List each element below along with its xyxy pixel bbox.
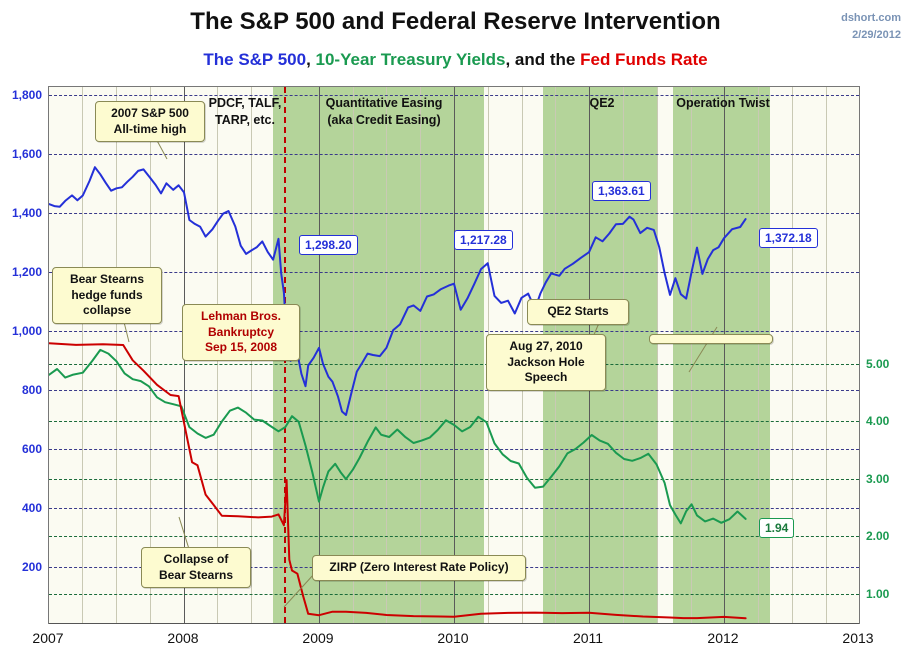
x-tick-2008: 2008 xyxy=(153,630,213,646)
y2-tick-2: 2.00 xyxy=(866,529,911,543)
credit-site: dshort.com xyxy=(841,10,901,27)
value-label-1372: 1,372.18 xyxy=(759,228,818,248)
y2-tick-4: 4.00 xyxy=(866,414,911,428)
y-tick-1600: 1,600 xyxy=(0,147,42,161)
credit-block: dshort.com 2/29/2012 xyxy=(841,10,901,44)
legend-sp500: The S&P 500 xyxy=(203,50,306,69)
callout-jackson-hole: Aug 27, 2010Jackson HoleSpeech xyxy=(486,334,606,391)
chart-subtitle: The S&P 500, 10-Year Treasury Yields, an… xyxy=(0,50,911,70)
y-tick-1000: 1,000 xyxy=(0,324,42,338)
callout-bear-hedge: Bear Stearnshedge fundscollapse xyxy=(52,267,162,324)
callout-bear-collapse: Collapse ofBear Stearns xyxy=(141,547,251,588)
callout-qe2-starts: QE2 Starts xyxy=(527,299,629,325)
legend-fedfunds: Fed Funds Rate xyxy=(580,50,708,69)
y-tick-1400: 1,400 xyxy=(0,206,42,220)
y-tick-800: 800 xyxy=(0,383,42,397)
x-tick-2009: 2009 xyxy=(288,630,348,646)
callout-zirp: ZIRP (Zero Interest Rate Policy) xyxy=(312,555,526,581)
value-label-194: 1.94 xyxy=(759,518,794,538)
y2-tick-3: 3.00 xyxy=(866,472,911,486)
y-tick-1800: 1,800 xyxy=(0,88,42,102)
y-tick-400: 400 xyxy=(0,501,42,515)
x-tick-2013: 2013 xyxy=(828,630,888,646)
callout-twist xyxy=(649,334,773,344)
x-tick-2007: 2007 xyxy=(18,630,78,646)
credit-date: 2/29/2012 xyxy=(841,27,901,44)
chart-plot-area: PDCF, TALF,TARP, etc. Quantitative Easin… xyxy=(48,86,860,624)
subtitle-sep-2: , and the xyxy=(505,50,580,69)
band-label-qe2: QE2 xyxy=(567,95,637,112)
y-tick-200: 200 xyxy=(0,560,42,574)
subtitle-sep-1: , xyxy=(306,50,315,69)
page-title: The S&P 500 and Federal Reserve Interven… xyxy=(0,8,911,36)
y2-tick-1: 1.00 xyxy=(866,587,911,601)
callout-lehman: Lehman Bros.BankruptcySep 15, 2008 xyxy=(182,304,300,361)
band-label-pdcf: PDCF, TALF,TARP, etc. xyxy=(195,95,295,129)
band-label-twist: Operation Twist xyxy=(673,95,773,112)
band-label-qe: Quantitative Easing(aka Credit Easing) xyxy=(299,95,469,129)
x-tick-2012: 2012 xyxy=(693,630,753,646)
y-tick-600: 600 xyxy=(0,442,42,456)
value-label-1363: 1,363.61 xyxy=(592,181,651,201)
x-tick-2011: 2011 xyxy=(558,630,618,646)
callout-all-time-high: 2007 S&P 500All-time high xyxy=(95,101,205,142)
value-label-1298: 1,298.20 xyxy=(299,235,358,255)
y2-tick-5: 5.00 xyxy=(866,357,911,371)
y-tick-1200: 1,200 xyxy=(0,265,42,279)
series-lines xyxy=(49,87,859,623)
legend-treasury: 10-Year Treasury Yields xyxy=(316,50,506,69)
x-tick-2010: 2010 xyxy=(423,630,483,646)
value-label-1217: 1,217.28 xyxy=(454,230,513,250)
